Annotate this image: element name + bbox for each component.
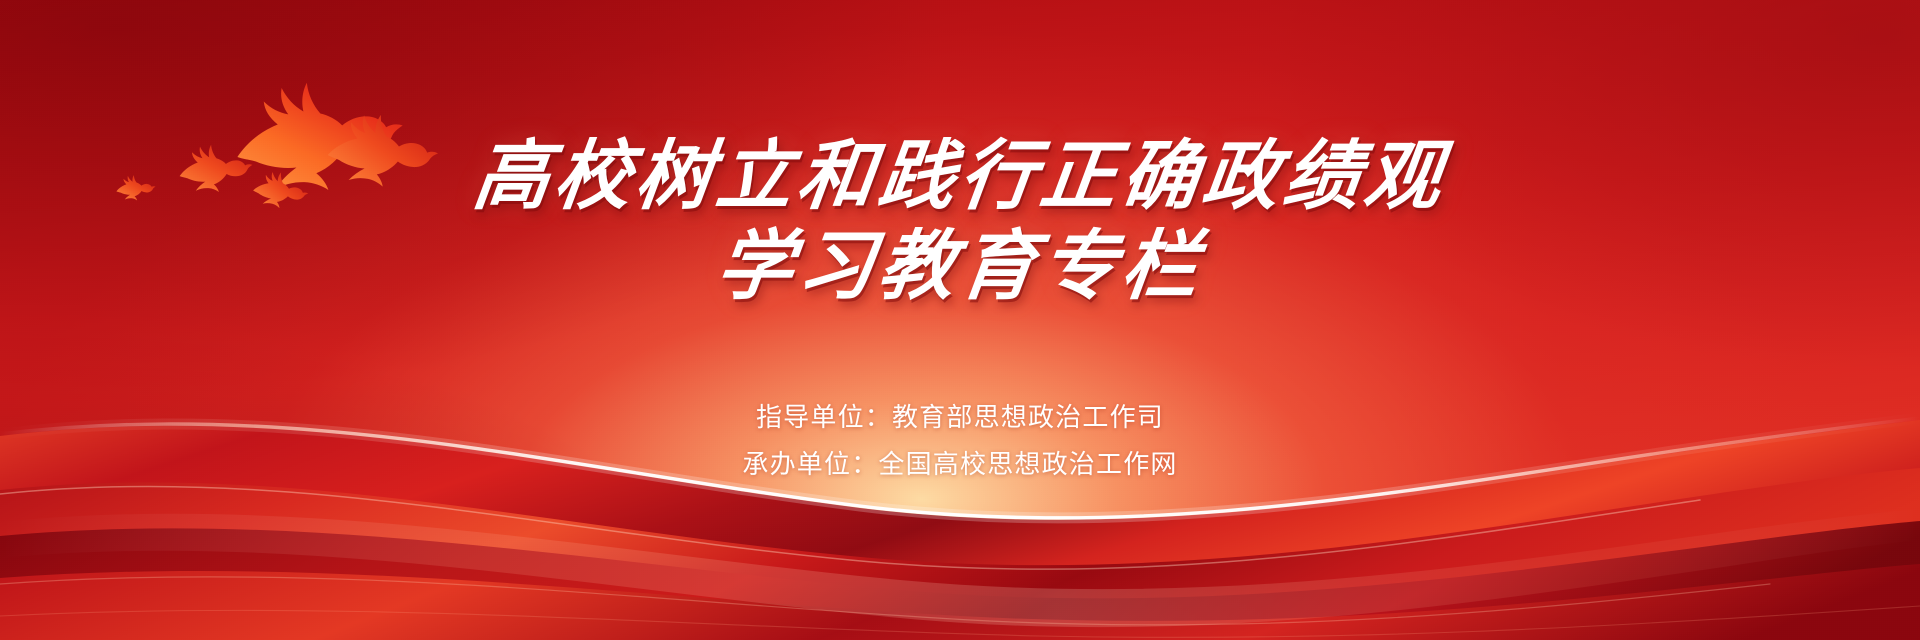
title-line-2: 学习教育专栏 [0, 224, 1920, 310]
subtitle-guidance-unit: 指导单位：教育部思想政治工作司 [0, 394, 1920, 441]
banner-root: 高校树立和践行正确政绩观 学习教育专栏 指导单位：教育部思想政治工作司 承办单位… [0, 0, 1920, 640]
banner-title: 高校树立和践行正确政绩观 学习教育专栏 [0, 134, 1920, 310]
banner-content: 高校树立和践行正确政绩观 学习教育专栏 指导单位：教育部思想政治工作司 承办单位… [0, 0, 1920, 640]
title-line-1: 高校树立和践行正确政绩观 [0, 134, 1920, 220]
subtitle-organizer-unit: 承办单位：全国高校思想政治工作网 [0, 441, 1920, 488]
banner-subtitles: 指导单位：教育部思想政治工作司 承办单位：全国高校思想政治工作网 [0, 394, 1920, 488]
